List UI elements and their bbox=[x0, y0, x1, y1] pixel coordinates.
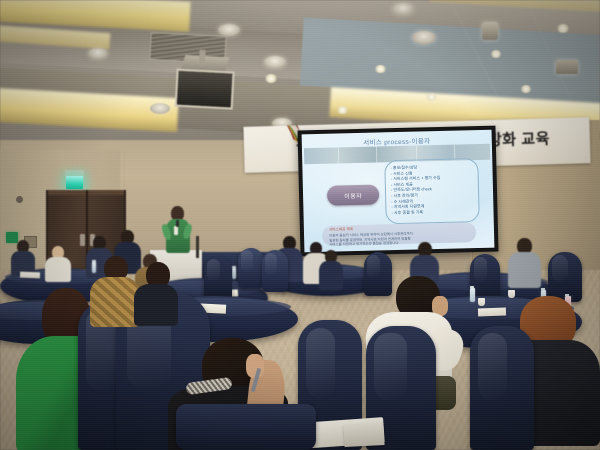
open-notebook-page bbox=[343, 423, 384, 447]
attendee bbox=[318, 250, 344, 290]
projection-screen: 서비스 process-이용자 이용자 - 홍보/접수/상담 - 서비스 신청 … bbox=[302, 130, 495, 253]
spot-light-icon bbox=[490, 50, 502, 58]
attendee-torso bbox=[134, 284, 178, 326]
banner-title-right: 강화 교육 bbox=[488, 127, 550, 150]
spot-light-icon bbox=[374, 65, 387, 73]
slide-node-user: 이용자 bbox=[327, 184, 379, 205]
downlight-icon bbox=[392, 3, 414, 15]
banquet-chair bbox=[238, 248, 264, 288]
spot-light-icon bbox=[425, 93, 438, 101]
banquet-chair-back bbox=[176, 404, 316, 450]
spot-light-icon bbox=[556, 24, 570, 33]
water-bottle bbox=[232, 268, 236, 279]
ceiling-projector bbox=[171, 54, 236, 109]
slide-bullet: - 사후 종결 및 기록 bbox=[391, 208, 477, 216]
attendee bbox=[44, 246, 72, 280]
banquet-chair bbox=[470, 326, 534, 450]
downlight-icon bbox=[264, 56, 286, 68]
presenter-badge bbox=[174, 226, 178, 235]
downlight-icon bbox=[88, 48, 108, 59]
handout-paper bbox=[20, 272, 40, 279]
ceiling-vent-icon bbox=[556, 60, 578, 74]
attendee-torso bbox=[90, 277, 140, 327]
downlight-icon bbox=[150, 103, 170, 114]
spot-light-icon bbox=[520, 85, 532, 93]
exit-sign-icon bbox=[66, 176, 83, 189]
banquet-chair bbox=[204, 256, 232, 300]
slide-note-box: 서비스제공 체계 이용자 중심의 서비스 제공을 위하여 상담에서 사후관리까지… bbox=[322, 222, 476, 246]
downlight-icon bbox=[218, 24, 240, 36]
coffee-cup bbox=[478, 298, 485, 306]
attendee bbox=[10, 240, 36, 274]
seminar-room-photo: 강원도 지역 강화 교육 일시 2012. 06. 08. 서비스 proces… bbox=[0, 0, 600, 450]
projection-screen-frame: 서비스 process-이용자 이용자 - 홍보/접수/상담 - 서비스 신청 … bbox=[297, 126, 498, 257]
downlight-icon bbox=[412, 31, 436, 44]
presenter bbox=[163, 206, 193, 258]
slide-node-label: 이용자 bbox=[327, 184, 379, 205]
banquet-chair bbox=[262, 250, 288, 292]
mic-stand bbox=[196, 236, 199, 258]
slide-bullet-box: - 홍보/접수/상담 - 서비스 신청 - 서비스형 서비스 + 평가 수집 -… bbox=[384, 158, 480, 224]
wall-fixture-icon bbox=[16, 196, 23, 203]
attendee bbox=[506, 238, 542, 288]
ceiling-speaker-icon bbox=[482, 22, 498, 40]
attendee-dark-hair bbox=[134, 262, 180, 324]
water-bottle bbox=[470, 288, 475, 302]
projector-body bbox=[175, 69, 235, 110]
slide-bullet-list: - 홍보/접수/상담 - 서비스 신청 - 서비스형 서비스 + 평가 수집 -… bbox=[390, 163, 477, 215]
spot-light-icon bbox=[264, 74, 278, 83]
projector-pole bbox=[199, 50, 206, 66]
spot-light-icon bbox=[336, 106, 349, 114]
microphone-icon bbox=[176, 220, 179, 227]
